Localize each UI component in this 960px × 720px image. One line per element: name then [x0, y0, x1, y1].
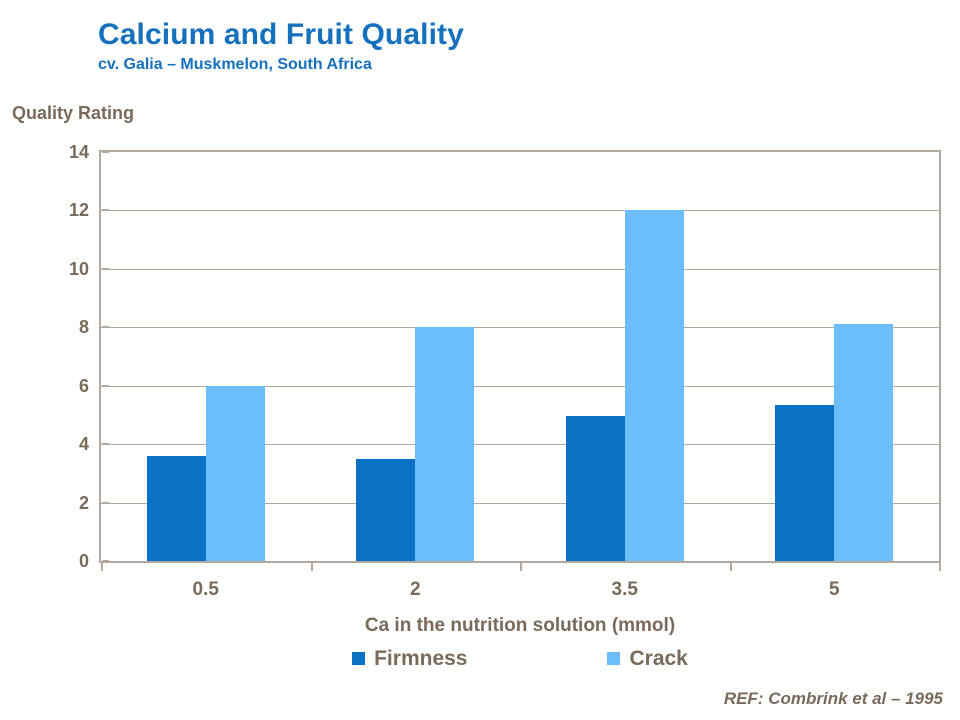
title-block: Calcium and Fruit Quality cv. Galia – Mu… [98, 18, 738, 76]
bar-firmness-0.5 [147, 456, 206, 561]
x-tick-mark-2 [520, 563, 522, 571]
y-tick-label-12: 12 [9, 201, 89, 219]
y-tick-mark-2 [102, 502, 109, 504]
legend-label-firmness: Firmness [374, 648, 467, 669]
x-tick-label-0.5: 0.5 [146, 579, 266, 601]
y-tick-mark-12 [102, 209, 109, 211]
y-tick-label-6: 6 [9, 377, 89, 395]
y-tick-mark-8 [102, 326, 109, 328]
bar-crack-0.5 [206, 386, 265, 561]
legend-entry-crack[interactable]: Crack [607, 648, 687, 669]
page-title: Calcium and Fruit Quality [98, 18, 738, 52]
y-axis-tick-labels: 02468101214 [9, 150, 89, 563]
bar-crack-3.5 [625, 210, 684, 561]
plot-area [99, 150, 941, 563]
legend-swatch-icon-firmness [352, 652, 365, 665]
y-tick-mark-10 [102, 268, 109, 270]
x-axis-title: Ca in the nutrition solution (mmol) [0, 615, 960, 637]
bar-crack-5 [834, 324, 893, 561]
y-tick-label-4: 4 [9, 435, 89, 453]
x-tick-mark-0 [101, 563, 103, 571]
x-tick-label-2: 2 [355, 579, 475, 601]
y-tick-label-10: 10 [9, 260, 89, 278]
y-tick-mark-6 [102, 385, 109, 387]
legend: FirmnessCrack [0, 648, 960, 669]
y-tick-label-2: 2 [9, 494, 89, 512]
y-tick-label-8: 8 [9, 318, 89, 336]
x-tick-mark-3 [730, 563, 732, 571]
x-tick-mark-4 [939, 563, 941, 571]
x-tick-label-5: 5 [774, 579, 894, 601]
y-tick-mark-14 [102, 151, 109, 153]
y-tick-mark-4 [102, 443, 109, 445]
legend-swatch-icon-crack [607, 652, 620, 665]
bar-crack-2 [415, 327, 474, 561]
y-axis-title: Quality Rating [12, 103, 134, 124]
page-subtitle: cv. Galia – Muskmelon, South Africa [98, 54, 738, 76]
bar-firmness-3.5 [566, 416, 625, 561]
legend-label-crack: Crack [629, 648, 687, 669]
x-tick-label-3.5: 3.5 [565, 579, 685, 601]
gridline-8 [101, 327, 939, 328]
gridline-10 [101, 269, 939, 270]
x-tick-mark-1 [311, 563, 313, 571]
y-tick-label-14: 14 [9, 143, 89, 161]
gridline-12 [101, 210, 939, 211]
bar-firmness-2 [356, 459, 415, 561]
y-tick-label-0: 0 [9, 552, 89, 570]
plot-inner [101, 152, 939, 561]
reference-note: REF: Combrink et al – 1995 [724, 689, 943, 709]
bar-firmness-5 [775, 405, 834, 561]
legend-entry-firmness[interactable]: Firmness [352, 648, 467, 669]
y-tick-mark-0 [102, 560, 109, 562]
